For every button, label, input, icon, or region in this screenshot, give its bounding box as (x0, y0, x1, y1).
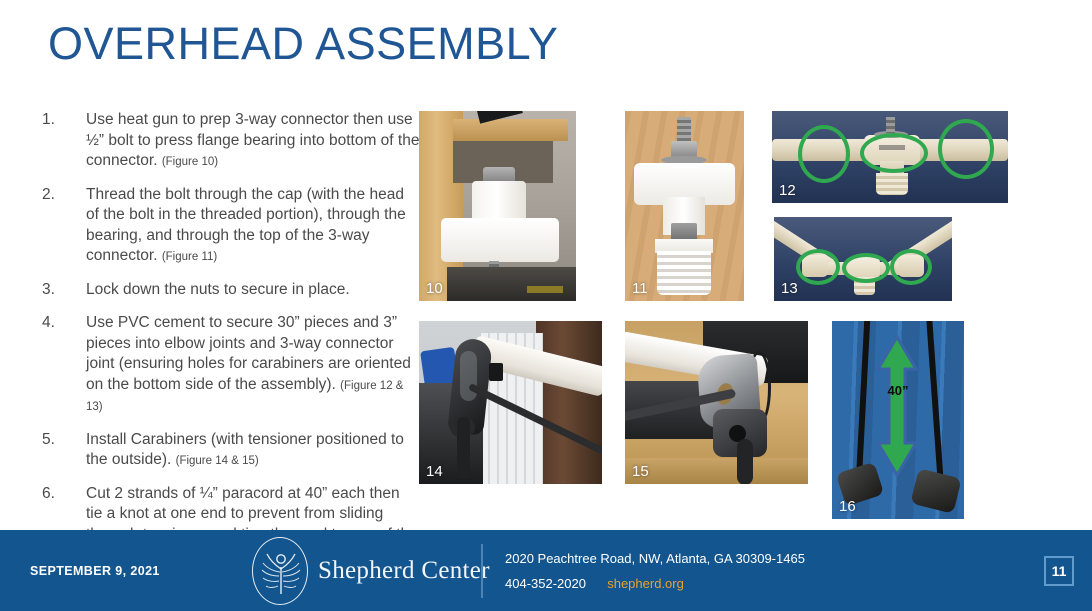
footer-bar: SEPTEMBER 9, 2021 Shephe (0, 530, 1092, 611)
list-item-number: 2. (42, 185, 86, 268)
figure-10-image: 10 (419, 111, 576, 301)
footer-url[interactable]: shepherd.org (607, 576, 684, 591)
organization-name: Shepherd Center (318, 557, 490, 585)
highlight-circle-center (842, 253, 890, 283)
footer-phone-line: 404-352-2020 shepherd.org (505, 571, 805, 596)
slide: OVERHEAD ASSEMBLY 1. Use heat gun to pre… (0, 0, 1092, 611)
list-item-number: 1. (42, 110, 86, 173)
footer-address: 2020 Peachtree Road, NW, Atlanta, GA 303… (505, 546, 805, 571)
figure-label: 10 (426, 280, 443, 297)
list-item-number: 5. (42, 430, 86, 472)
wood-shelf (453, 119, 568, 141)
footer-phone: 404-352-2020 (505, 576, 586, 591)
carabiner-gate (460, 351, 477, 401)
door (536, 321, 602, 484)
measurement-arrow-icon (876, 335, 918, 477)
page-number-badge: 11 (1044, 556, 1074, 586)
footer-contact: 2020 Peachtree Road, NW, Atlanta, GA 303… (505, 546, 805, 596)
highlight-circle-left (798, 125, 850, 183)
figure-label: 14 (426, 463, 443, 480)
figure-reference: (Figure 11) (162, 251, 217, 263)
figure-14-image: 14 (419, 321, 602, 484)
top-bolt (886, 117, 895, 133)
bottom-cap (876, 173, 908, 195)
shepherd-logo-icon (252, 537, 308, 605)
figure-13-image: 13 (774, 217, 952, 301)
footer-date: SEPTEMBER 9, 2021 (30, 564, 160, 578)
highlight-circle-right (890, 249, 932, 285)
highlight-circle-right (938, 119, 994, 179)
list-item-body: Lock down the nuts to secure in place. (86, 281, 350, 298)
list-item-text: Lock down the nuts to secure in place. (86, 280, 420, 302)
highlight-circle-left (796, 249, 840, 285)
footer-divider (481, 544, 483, 598)
figure-label: 12 (779, 182, 796, 199)
figure-label: 13 (781, 280, 798, 297)
list-item: 4. Use PVC cement to secure 30” pieces a… (42, 313, 420, 418)
shepherd-center-logo: Shepherd Center (252, 537, 490, 605)
figure-12-image: 12 (772, 111, 1008, 203)
highlight-circle-center (860, 133, 928, 173)
measurement-label: 40” (832, 383, 964, 398)
figure-label: 11 (632, 280, 648, 297)
figure-label: 16 (839, 498, 856, 515)
clamp-accent (527, 286, 563, 293)
list-item: 5. Install Carabiners (with tensioner po… (42, 430, 420, 472)
list-item-number: 3. (42, 280, 86, 302)
page-title: OVERHEAD ASSEMBLY (48, 18, 558, 70)
figure-11-image: 11 (625, 111, 744, 301)
instruction-list: 1. Use heat gun to prep 3-way connector … (42, 110, 420, 579)
list-item-text: Use heat gun to prep 3-way connector the… (86, 110, 420, 173)
list-item: 2. Thread the bolt through the cap (with… (42, 185, 420, 268)
list-item-text: Use PVC cement to secure 30” pieces and … (86, 313, 420, 418)
figure-reference: (Figure 10) (162, 156, 218, 168)
tee-horizontal-body (441, 218, 559, 262)
clamp (447, 267, 576, 301)
list-item-body: Use heat gun to prep 3-way connector the… (86, 111, 419, 169)
figure-with-wings-icon (253, 538, 309, 606)
list-item-text: Thread the bolt through the cap (with th… (86, 185, 420, 268)
wood-board (625, 458, 808, 484)
list-item: 1. Use heat gun to prep 3-way connector … (42, 110, 420, 173)
clip (489, 363, 503, 381)
figure-label: 15 (632, 463, 649, 480)
figure-15-image: 15 (625, 321, 808, 484)
list-item-text: Install Carabiners (with tensioner posit… (86, 430, 420, 472)
paracord-tail (737, 439, 753, 484)
list-item: 3. Lock down the nuts to secure in place… (42, 280, 420, 302)
list-item-body: Thread the bolt through the cap (with th… (86, 186, 406, 265)
list-item-number: 4. (42, 313, 86, 418)
paracord-tail (457, 417, 470, 479)
figure-16-image: 40” 16 (832, 321, 964, 519)
figure-reference: (Figure 14 & 15) (176, 455, 259, 467)
threaded-cap (657, 251, 711, 295)
top-nut (671, 141, 697, 157)
